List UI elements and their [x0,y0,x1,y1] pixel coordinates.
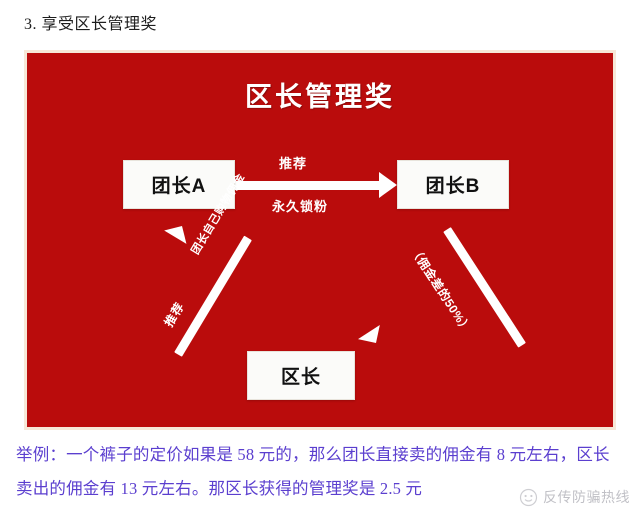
page-heading: 3. 享受区长管理奖 [24,10,157,34]
arrow-label-lock-fans: 永久锁粉 [272,196,328,215]
arrow-team-a-to-team-b-line [235,181,381,190]
node-district-head: 区长 [247,351,355,400]
arrow-team-b-to-district-head-icon [358,325,394,361]
watermark: 反传防骗热线 [519,487,630,507]
watermark-text: 反传防骗热线 [543,487,630,507]
arrow-team-a-to-team-b-head-icon [379,172,397,198]
arrow-district-to-team-a-line [174,236,252,357]
circular-logo-icon [519,488,538,507]
arrow-label-recommend-left: 推荐 [160,299,188,330]
diagram-panel: 区长管理奖 团长A 团长B 区长 推荐 永久锁粉 团长自己购物佣金 推荐 （佣金… [24,50,616,430]
arrow-team-b-to-district-line [443,227,526,348]
arrow-label-recommend-top: 推荐 [279,153,307,172]
diagram-title: 区长管理奖 [27,75,613,114]
node-team-leader-b: 团长B [397,160,509,209]
